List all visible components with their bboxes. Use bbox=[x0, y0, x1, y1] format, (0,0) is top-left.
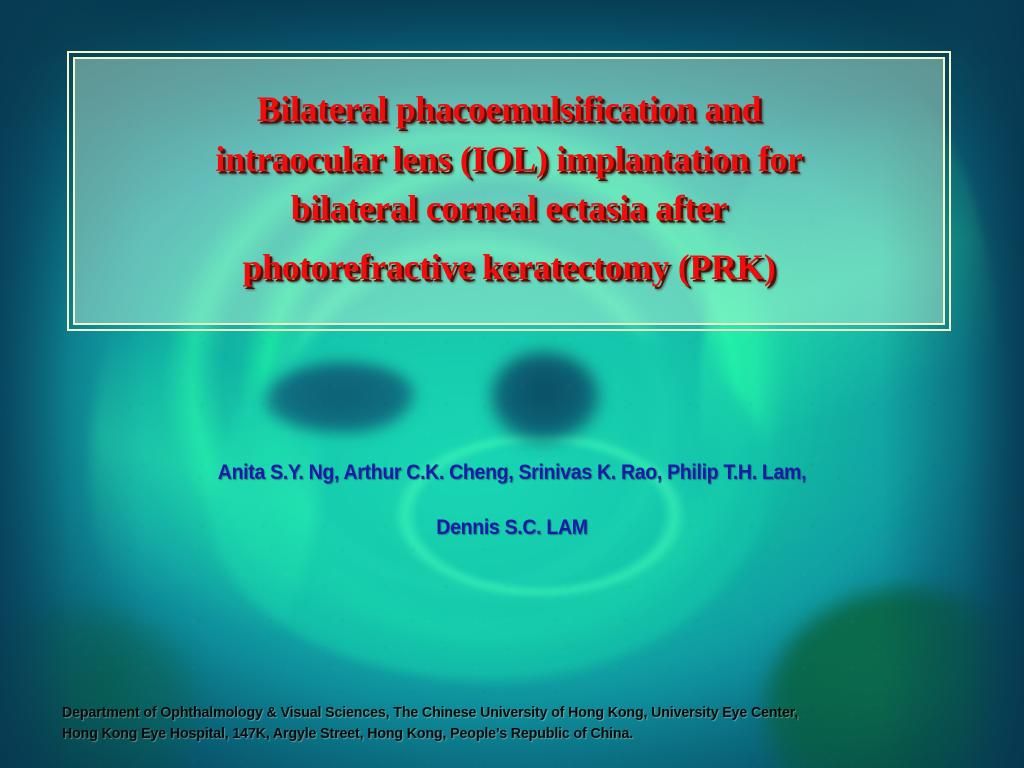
author-line-1: Anita S.Y. Ng, Arthur C.K. Cheng, Sriniv… bbox=[36, 462, 988, 483]
author-list: Anita S.Y. Ng, Arthur C.K. Cheng, Sriniv… bbox=[36, 462, 988, 538]
author-line-2: Dennis S.C. LAM bbox=[36, 517, 988, 538]
title-placeholder-box: Bilateral phacoemulsification and intrao… bbox=[73, 57, 945, 325]
title-line-3: bilateral corneal ectasia after bbox=[93, 184, 925, 233]
affiliation-line-2: Hong Kong Eye Hospital, 147K, Argyle Str… bbox=[62, 724, 969, 745]
title-line-4: photorefractive keratectomy (PRK) bbox=[93, 243, 925, 292]
slide-title: Bilateral phacoemulsification and intrao… bbox=[93, 85, 925, 292]
title-slide: Bilateral phacoemulsification and intrao… bbox=[0, 0, 1024, 768]
affiliation-line-1: Department of Ophthalmology & Visual Sci… bbox=[62, 703, 969, 724]
title-line-2: intraocular lens (IOL) implantation for bbox=[93, 135, 925, 184]
affiliation-text: Department of Ophthalmology & Visual Sci… bbox=[62, 703, 969, 746]
title-line-1: Bilateral phacoemulsification and bbox=[93, 85, 925, 134]
